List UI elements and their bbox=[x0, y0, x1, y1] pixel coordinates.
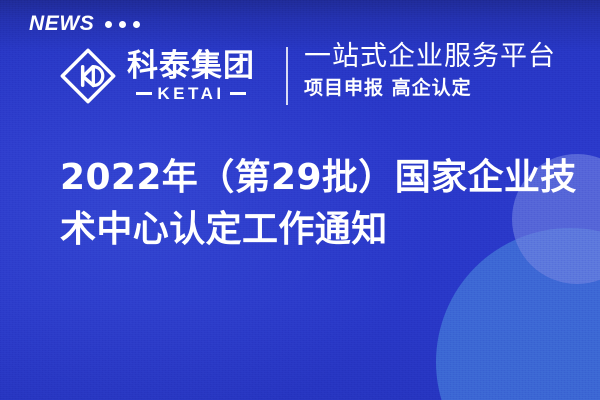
brand-lockup: 科泰集团 KETAI bbox=[57, 45, 255, 107]
brand-divider bbox=[286, 47, 288, 105]
dot-icon bbox=[119, 21, 126, 28]
brand-name-en-row: KETAI bbox=[127, 85, 255, 102]
tagline-main: 一站式企业服务平台 bbox=[304, 42, 556, 72]
brand-rule-left-icon bbox=[136, 92, 152, 95]
brand-name-cn: 科泰集团 bbox=[127, 50, 255, 83]
news-dots-icon bbox=[105, 21, 140, 28]
tagline-block: 一站式企业服务平台 项目申报 高企认定 bbox=[304, 42, 556, 99]
brand-rule-right-icon bbox=[230, 92, 246, 95]
ketai-diamond-kd-logo-icon bbox=[57, 45, 119, 107]
news-tag: NEWS bbox=[29, 13, 140, 34]
brand-names: 科泰集团 KETAI bbox=[127, 50, 255, 102]
headline-title: 2022年（第29批）国家企业技术中心认定工作通知 bbox=[60, 152, 580, 256]
dot-icon bbox=[105, 21, 112, 28]
brand-name-en: KETAI bbox=[157, 85, 224, 102]
news-label: NEWS bbox=[29, 13, 94, 34]
dot-icon bbox=[133, 21, 140, 28]
news-banner: NEWS 科泰集团 KETAI bbox=[0, 0, 600, 400]
tagline-sub: 项目申报 高企认定 bbox=[304, 78, 556, 99]
